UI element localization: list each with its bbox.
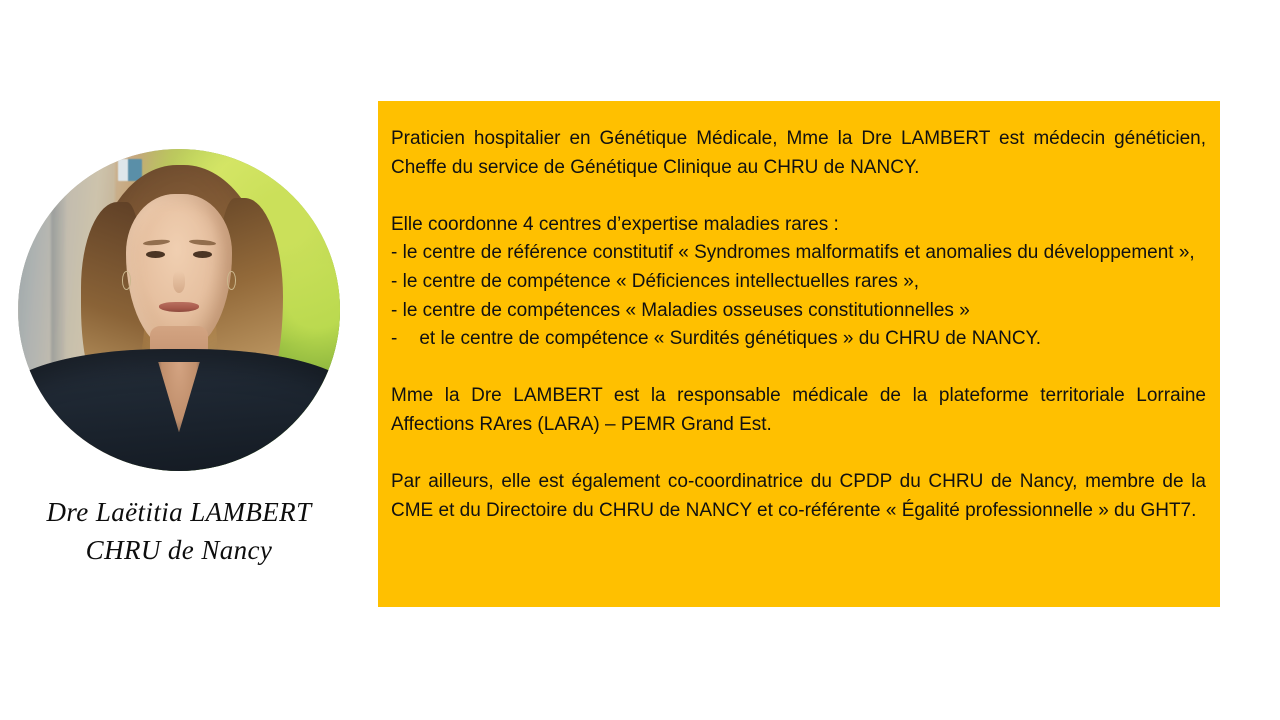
photo-eye-right: [193, 251, 212, 258]
photo-earring-left: [122, 271, 131, 290]
bio-paragraph-role: Praticien hospitalier en Génétique Médic…: [391, 125, 1206, 182]
bio-list-item-3: - le centre de compétences « Maladies os…: [391, 297, 1206, 326]
bio-spacer-1: [391, 182, 1206, 211]
photo-mouth: [159, 302, 199, 312]
photo-eye-left: [146, 251, 165, 258]
portrait-block: Dre Laëtitia LAMBERT CHRU de Nancy: [18, 149, 340, 569]
bio-paragraph-lara: Mme la Dre LAMBERT est la responsable mé…: [391, 382, 1206, 439]
bio-spacer-2: [391, 354, 1206, 383]
bio-paragraph-other-roles: Par ailleurs, elle est également co-coor…: [391, 468, 1206, 525]
portrait-photo-image: [18, 149, 340, 471]
biography-panel: Praticien hospitalier en Génétique Médic…: [378, 101, 1220, 607]
photo-eyebrow-right: [188, 239, 215, 246]
portrait-caption-name: Dre Laëtitia LAMBERT: [18, 493, 340, 531]
bio-list-item-2: - le centre de compétence « Déficiences …: [391, 268, 1206, 297]
photo-eyebrow-left: [143, 239, 170, 246]
portrait-caption-affiliation: CHRU de Nancy: [18, 531, 340, 569]
biography-text: Praticien hospitalier en Génétique Médic…: [391, 125, 1206, 525]
bio-list-item-4-label: et le centre de compétence « Surdités gé…: [419, 328, 1041, 349]
portrait-caption: Dre Laëtitia LAMBERT CHRU de Nancy: [18, 493, 340, 569]
bio-list-item-4-dash: -: [391, 328, 397, 349]
bio-list-item-4: -et le centre de compétence « Surdités g…: [391, 325, 1206, 354]
photo-nose: [173, 271, 186, 293]
bio-paragraph-centers-intro: Elle coordonne 4 centres d’expertise mal…: [391, 211, 1206, 240]
portrait-photo: [18, 149, 340, 471]
bio-list-item-1: - le centre de référence constitutif « S…: [391, 239, 1206, 268]
bio-spacer-3: [391, 440, 1206, 469]
